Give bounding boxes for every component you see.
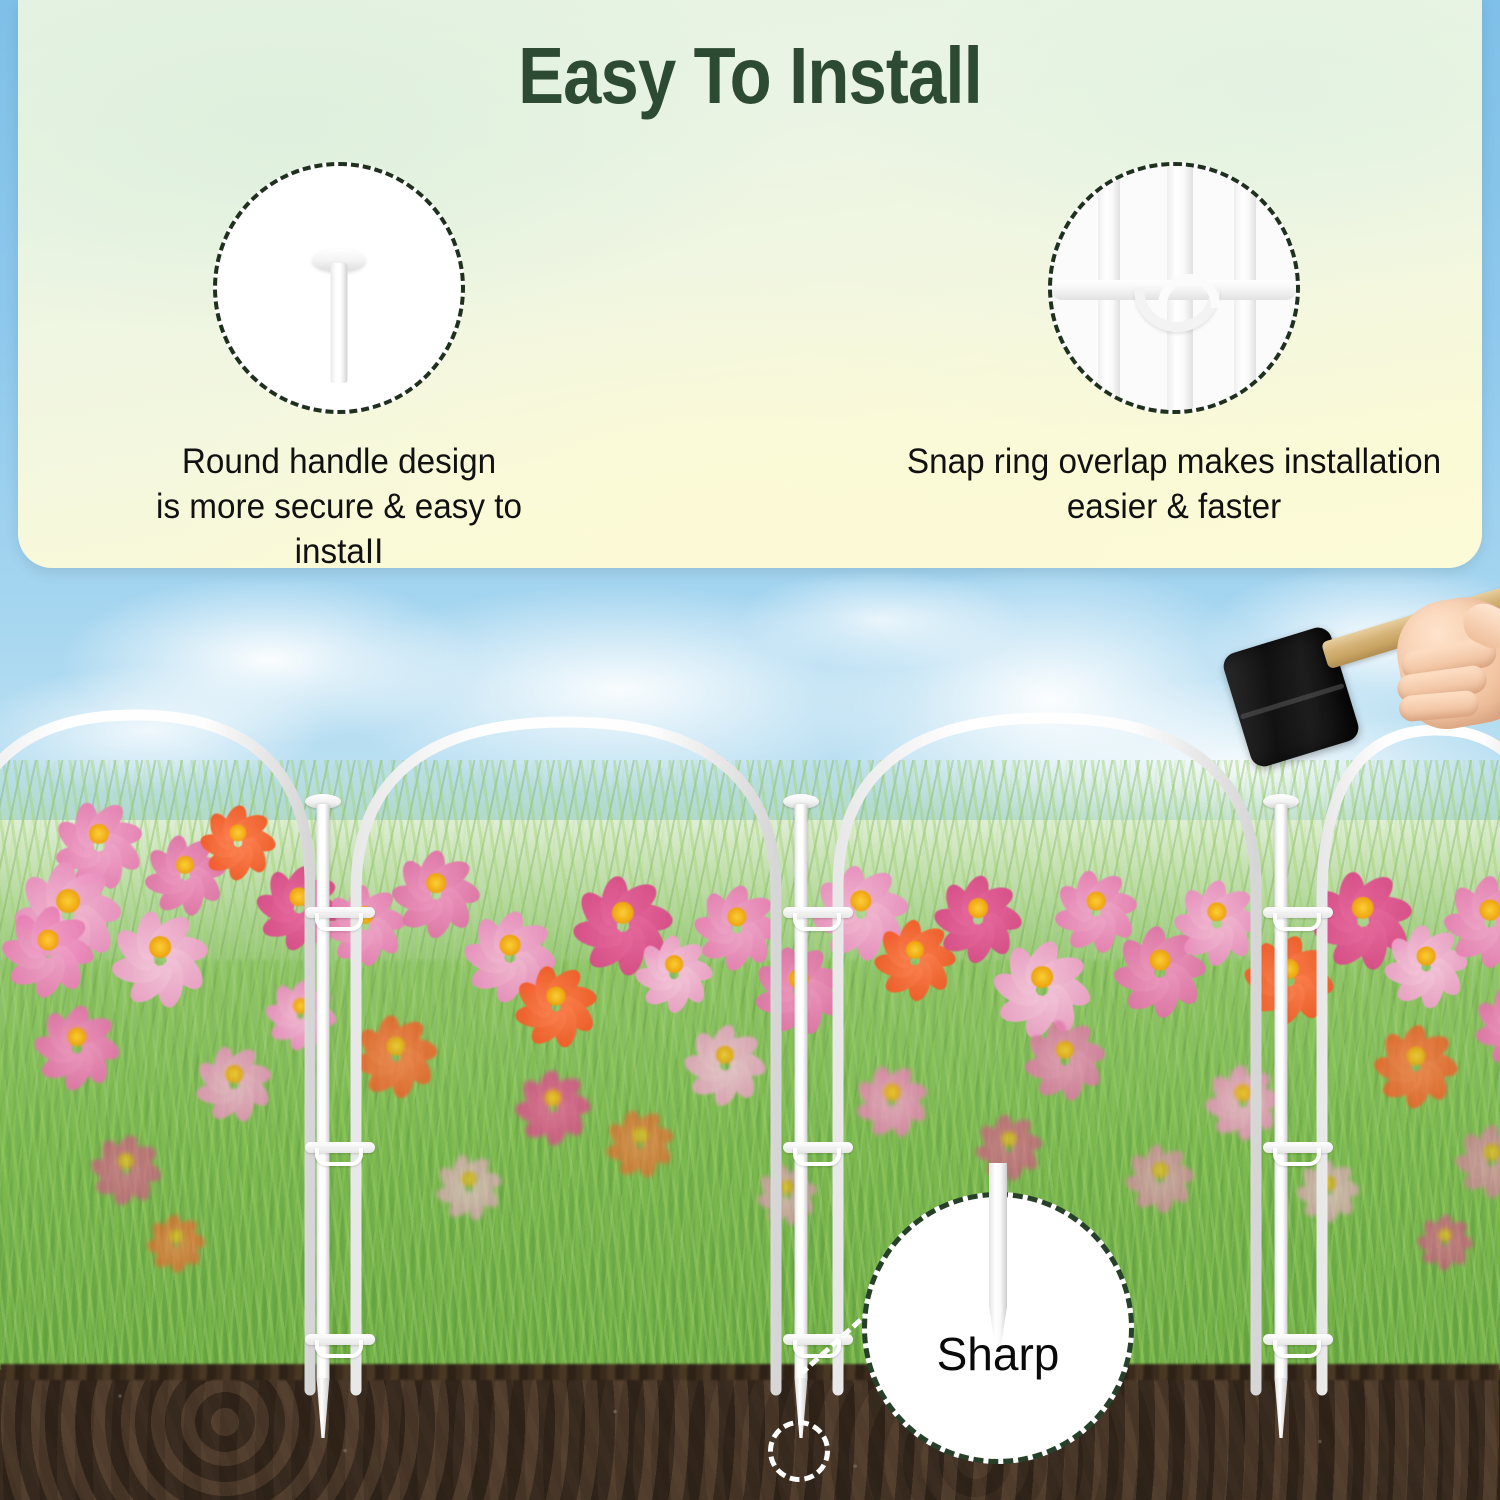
header-card: Easy To Install Round handle design is m… <box>18 0 1482 568</box>
stake-shaft <box>317 804 330 1382</box>
sharp-callout-label: Sharp <box>937 1327 1060 1381</box>
callout-anchor-circle <box>768 1420 830 1482</box>
hand <box>1377 592 1500 740</box>
fence-stake <box>1268 782 1294 1382</box>
snap-ring-clip <box>305 1140 375 1162</box>
snap-ring-clip <box>783 1140 853 1162</box>
rubber-mallet-icon <box>1225 590 1500 780</box>
round-handle-stake-icon <box>279 193 399 383</box>
stake-shaft <box>1275 804 1288 1382</box>
sharp-callout: Sharp <box>862 1192 1134 1464</box>
page-title: Easy To Install <box>120 30 1379 122</box>
feature-snap-ring: Snap ring overlap makes installation eas… <box>824 162 1482 530</box>
feature-round-handle: Round handle design is more secure & eas… <box>124 162 554 568</box>
stake-shaft <box>795 804 808 1382</box>
snap-ring-clip <box>1263 905 1333 927</box>
fence-stake <box>788 782 814 1382</box>
fence-stake <box>310 782 336 1382</box>
caption-line-2: is more secure & easy to instaII <box>135 485 544 568</box>
feature-caption: Snap ring overlap makes installation eas… <box>842 440 1483 530</box>
snap-ring-overlap-icon <box>1052 162 1296 414</box>
snap-ring-clip <box>1263 1332 1333 1354</box>
caption-line-2: easier & faster <box>842 485 1483 530</box>
snap-ring-clip <box>305 905 375 927</box>
snap-ring-clip <box>783 905 853 927</box>
snap-ring-clip <box>305 1332 375 1354</box>
caption-line-1: Round handle design <box>135 440 544 485</box>
snap-ring-clip <box>1263 1140 1333 1162</box>
snap-ring-icon-circle <box>1048 162 1300 414</box>
infographic-root: Sharp Easy To Install Round handle desig… <box>0 0 1500 1500</box>
stake-shaft <box>331 263 348 383</box>
caption-line-1: Snap ring overlap makes installation <box>842 440 1483 485</box>
round-handle-icon-circle <box>213 162 465 414</box>
feature-caption: Round handle design is more secure & eas… <box>135 440 544 568</box>
